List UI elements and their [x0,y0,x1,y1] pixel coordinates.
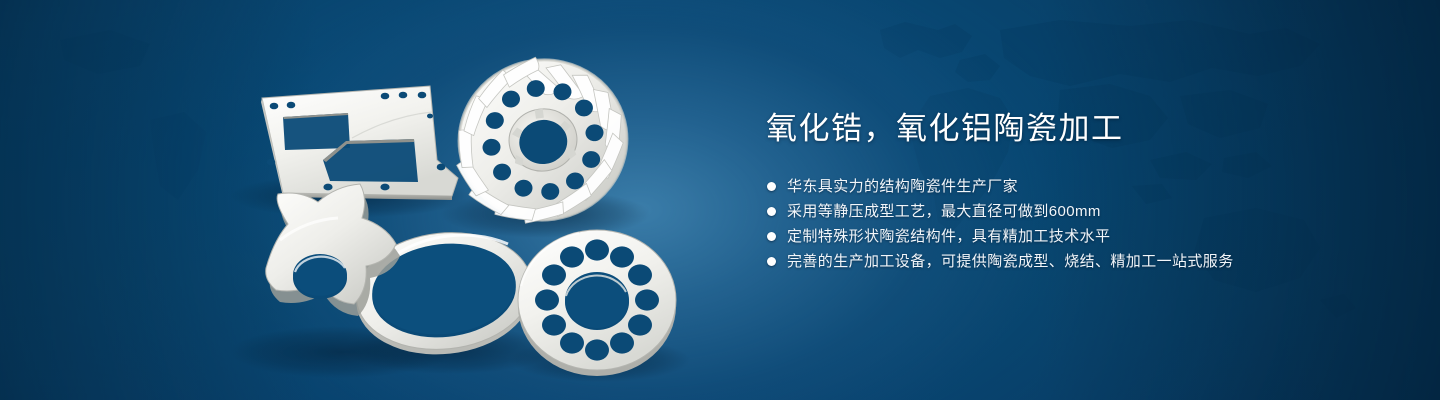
list-item: 完善的生产加工设备，可提供陶瓷成型、烧结、精加工一站式服务 [766,249,1386,274]
hero-banner: 氧化锆，氧化铝陶瓷加工 华东具实力的结构陶瓷件生产厂家 采用等静压成型工艺，最大… [0,0,1440,400]
feature-text: 定制特殊形状陶瓷结构件，具有精加工技术水平 [787,224,1110,249]
list-item: 华东具实力的结构陶瓷件生产厂家 [766,174,1386,199]
banner-copy: 氧化锆，氧化铝陶瓷加工 华东具实力的结构陶瓷件生产厂家 采用等静压成型工艺，最大… [766,108,1386,274]
bullet-dot-icon [767,257,776,266]
feature-list: 华东具实力的结构陶瓷件生产厂家 采用等静压成型工艺，最大直径可做到600mm 定… [766,174,1386,274]
feature-text: 采用等静压成型工艺，最大直径可做到600mm [787,199,1101,224]
list-item: 采用等静压成型工艺，最大直径可做到600mm [766,199,1386,224]
feature-text: 完善的生产加工设备，可提供陶瓷成型、烧结、精加工一站式服务 [787,249,1234,274]
product-photo-group [0,0,720,400]
ceramic-mounting-plate [261,86,458,200]
page-title: 氧化锆，氧化铝陶瓷加工 [766,108,1386,150]
list-item: 定制特殊形状陶瓷结构件，具有精加工技术水平 [766,224,1386,249]
bullet-dot-icon [767,207,776,216]
bullet-dot-icon [767,232,776,241]
ceramic-perforated-disc [518,230,676,376]
bullet-dot-icon [767,182,776,191]
feature-text: 华东具实力的结构陶瓷件生产厂家 [787,174,1018,199]
